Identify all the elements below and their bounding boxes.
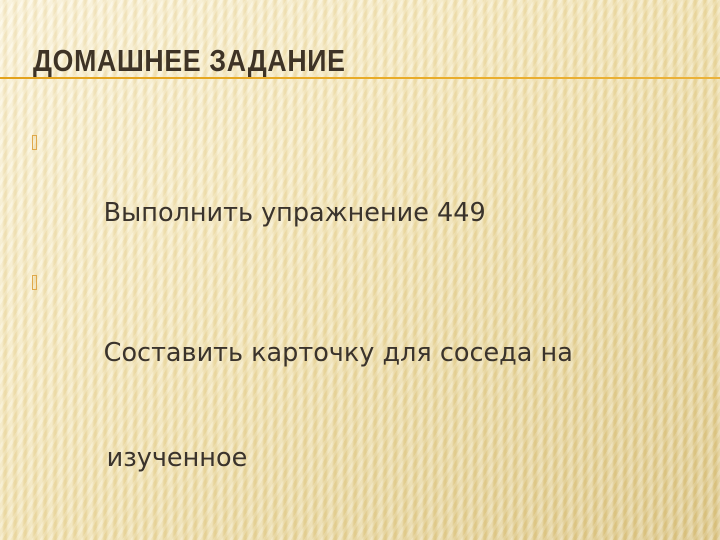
presentation-slide: ДОМАШНЕЕ ЗАДАНИЕ Выполнить упражнение 44… xyxy=(0,0,720,540)
bullet-box-icon xyxy=(32,135,37,150)
bullet-box-icon xyxy=(32,275,37,290)
list-item-label: Выполнить упражнение 449 xyxy=(104,198,486,228)
paragraph-line: правило (10 слов с пропущенными xyxy=(0,511,720,540)
title-underline-rule xyxy=(0,77,720,79)
list-item: Выполнить упражнение 449 xyxy=(0,126,720,266)
list-item-continuation: изученное xyxy=(0,406,720,511)
slide-title-block: ДОМАШНЕЕ ЗАДАНИЕ xyxy=(0,44,720,84)
slide-body: Выполнить упражнение 449 Составить карто… xyxy=(0,126,720,540)
list-item: Составить карточку для соседа на xyxy=(0,266,720,406)
list-item-continuation-label: изученное xyxy=(107,443,248,473)
list-item-label: Составить карточку для соседа на xyxy=(104,338,573,368)
page-title: ДОМАШНЕЕ ЗАДАНИЕ xyxy=(33,44,346,78)
